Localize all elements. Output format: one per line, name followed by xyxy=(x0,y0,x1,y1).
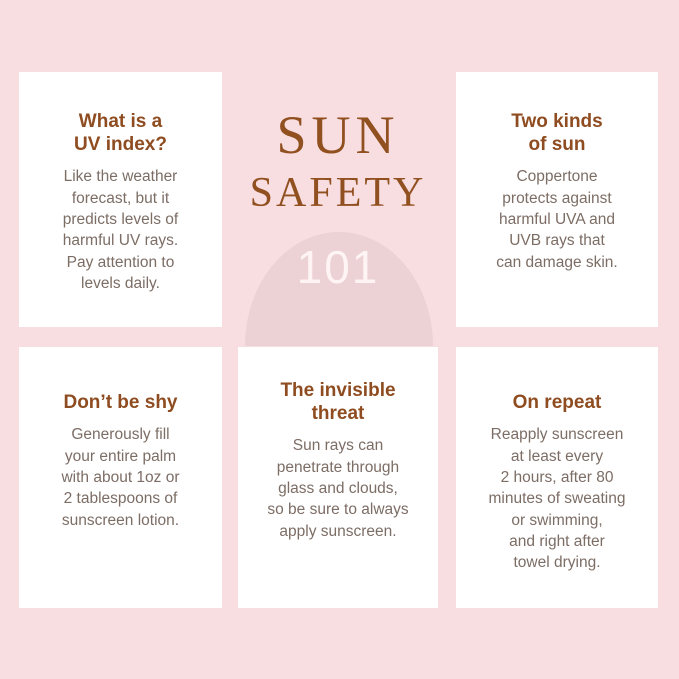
card-body: Generously fill your entire palm with ab… xyxy=(61,424,179,531)
card-two-kinds-of-sun: Two kinds of sun Coppertone protects aga… xyxy=(456,72,658,327)
card-dont-be-shy: Don’t be shy Generously fill your entire… xyxy=(19,347,222,608)
brand-number-101: 101 xyxy=(238,244,438,290)
card-title: The invisible threat xyxy=(280,379,395,425)
brand-line-safety: SAFETY xyxy=(238,168,438,218)
card-title: On repeat xyxy=(513,391,602,414)
card-invisible-threat: The invisible threat Sun rays can penetr… xyxy=(238,347,438,608)
card-uv-index: What is a UV index? Like the weather for… xyxy=(19,72,222,327)
brand-title-block: SUN SAFETY 101 xyxy=(238,72,438,346)
card-title: Don’t be shy xyxy=(63,391,177,414)
brand-line-sun: SUN xyxy=(238,108,438,162)
card-title: What is a UV index? xyxy=(74,110,167,156)
card-body: Coppertone protects against harmful UVA … xyxy=(496,166,618,273)
card-body: Like the weather forecast, but it predic… xyxy=(63,166,178,294)
card-title: Two kinds of sun xyxy=(511,110,602,156)
sun-safety-infographic: SUN SAFETY 101 What is a UV index? Like … xyxy=(0,0,679,679)
card-body: Sun rays can penetrate through glass and… xyxy=(267,435,408,542)
card-on-repeat: On repeat Reapply sunscreen at least eve… xyxy=(456,347,658,608)
card-body: Reapply sunscreen at least every 2 hours… xyxy=(489,424,626,574)
